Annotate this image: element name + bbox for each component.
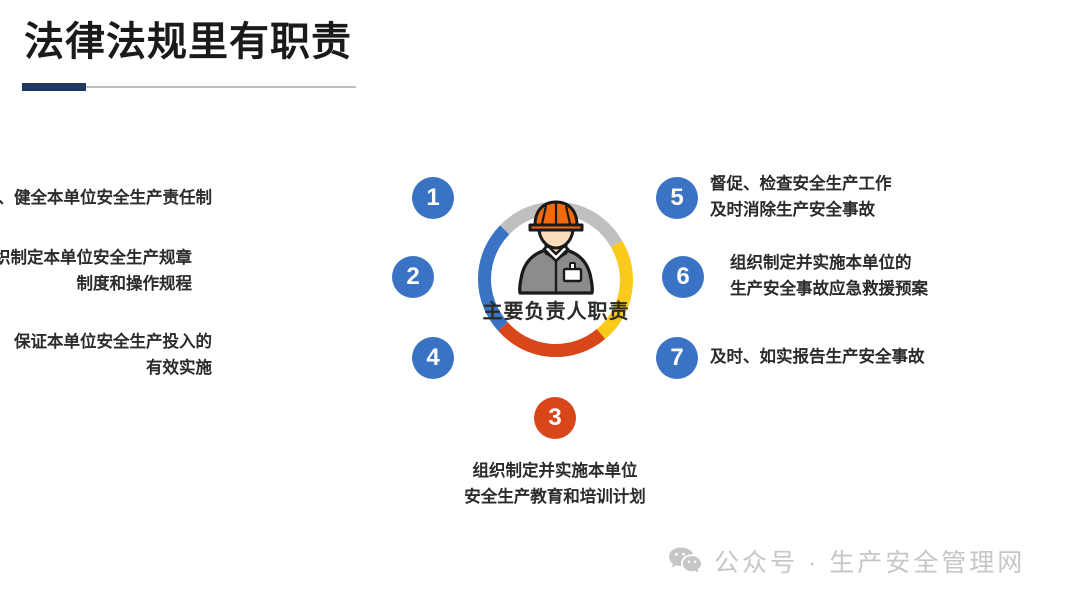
item-badge-6[interactable]: 6 <box>662 256 704 298</box>
item-badge-3[interactable]: 3 <box>534 397 576 439</box>
watermark: 公众号 · 生产安全管理网 <box>668 543 1025 579</box>
item-text-5: 督促、检查安全生产工作 及时消除生产安全事故 <box>710 172 892 223</box>
center-label: 主要负责人职责 <box>446 295 666 324</box>
item-text-7-line-1: 及时、如实报告生产安全事故 <box>710 345 925 371</box>
item-text-6: 组织制定并实施本单位的 生产安全事故应急救援预案 <box>730 251 928 302</box>
item-badge-4[interactable]: 4 <box>412 337 454 379</box>
safety-worker-icon <box>508 197 604 297</box>
item-text-6-line-1: 组织制定并实施本单位的 <box>730 251 928 277</box>
item-text-2: 组织制定本单位安全生产规章 制度和操作规程 <box>0 246 192 297</box>
item-text-3-line-1: 组织制定并实施本单位 <box>440 459 670 485</box>
item-text-1: 建立、健全本单位安全生产责任制 <box>0 186 212 212</box>
item-text-7: 及时、如实报告生产安全事故 <box>710 345 925 371</box>
item-badge-7[interactable]: 7 <box>656 337 698 379</box>
item-badge-5[interactable]: 5 <box>656 177 698 219</box>
item-text-4-line-2: 有效实施 <box>14 356 212 382</box>
item-text-3-line-2: 安全生产教育和培训计划 <box>440 485 670 511</box>
item-badge-1[interactable]: 1 <box>412 177 454 219</box>
item-badge-2[interactable]: 2 <box>392 256 434 298</box>
central-diagram: 主要负责人职责 <box>460 183 652 375</box>
item-text-2-line-2: 制度和操作规程 <box>0 272 192 298</box>
watermark-text: 公众号 · 生产安全管理网 <box>714 543 1025 579</box>
title-accent-bar <box>22 83 86 91</box>
item-text-4: 保证本单位安全生产投入的 有效实施 <box>14 330 212 381</box>
item-text-5-line-1: 督促、检查安全生产工作 <box>710 172 892 198</box>
item-text-4-line-1: 保证本单位安全生产投入的 <box>14 330 212 356</box>
item-text-2-line-1: 组织制定本单位安全生产规章 <box>0 246 192 272</box>
wechat-icon <box>668 546 702 576</box>
ring-orange-segment <box>503 326 601 350</box>
item-text-1-line-1: 建立、健全本单位安全生产责任制 <box>0 186 212 212</box>
page-title: 法律法规里有职责 <box>24 18 352 66</box>
item-text-3: 组织制定并实施本单位 安全生产教育和培训计划 <box>440 459 670 510</box>
item-text-6-line-2: 生产安全事故应急救援预案 <box>730 277 928 303</box>
item-text-5-line-2: 及时消除生产安全事故 <box>710 198 892 224</box>
